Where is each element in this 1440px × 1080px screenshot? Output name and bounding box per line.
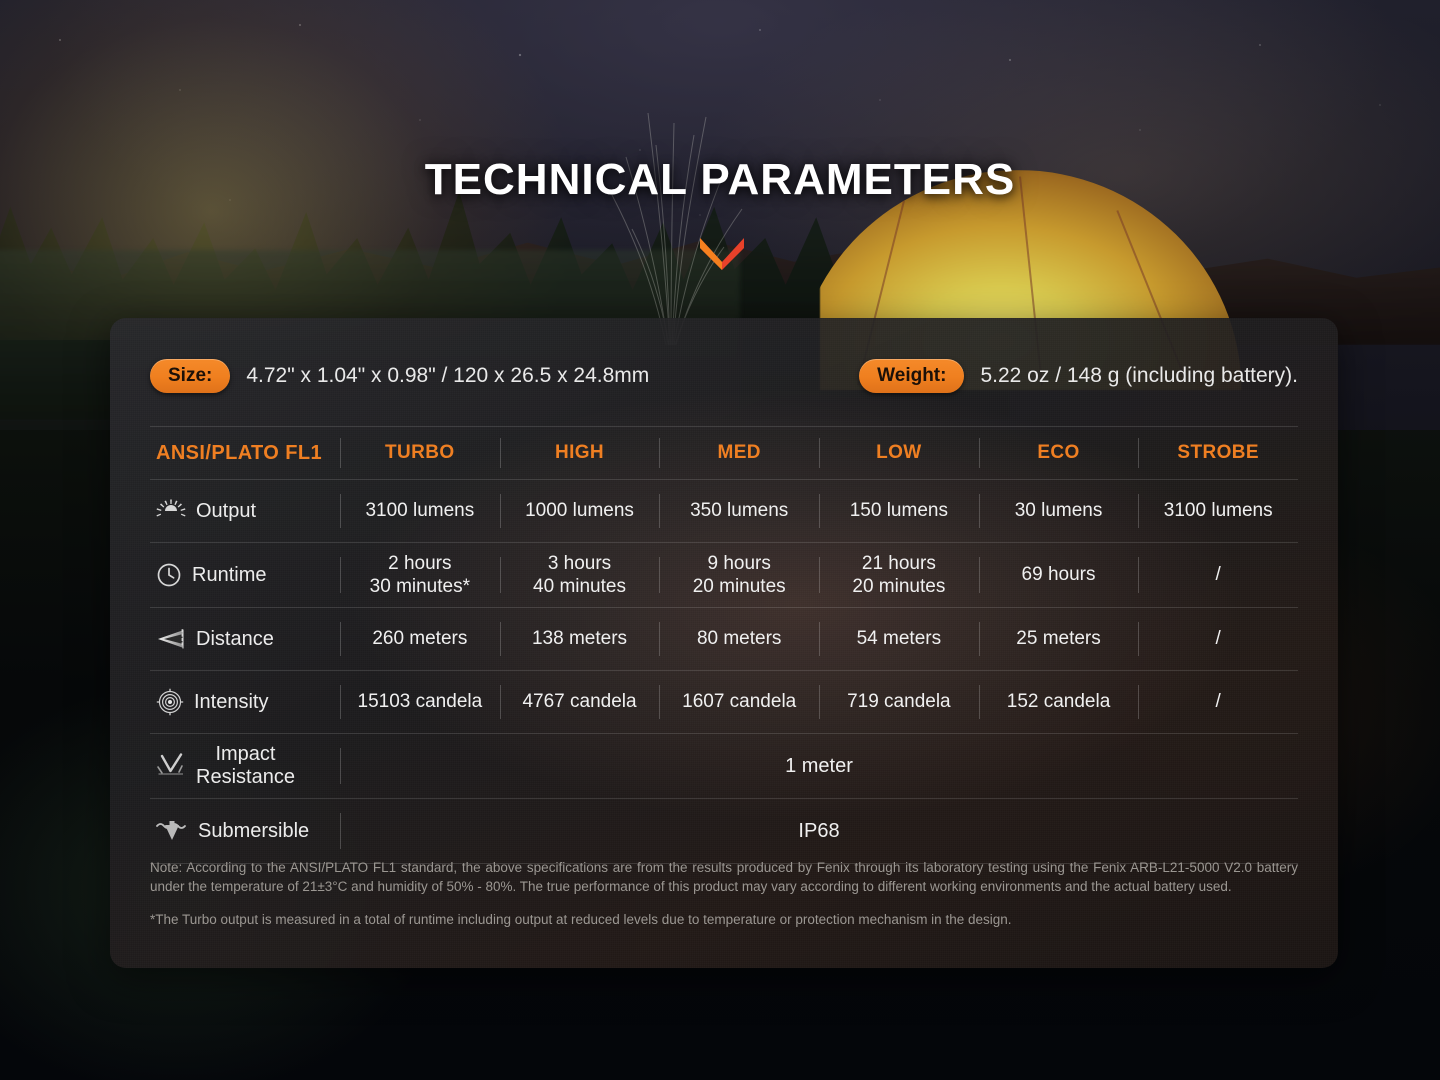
row-label-text: Intensity bbox=[194, 690, 268, 714]
page-root: TECHNICAL PARAMETERS Size: 4.72" x 1.04"… bbox=[0, 0, 1440, 1080]
cell-runtime-low: 21 hours20 minutes bbox=[819, 543, 979, 607]
submersible-icon bbox=[156, 819, 188, 843]
row-label-distance: Distance bbox=[150, 608, 340, 670]
size-value: 4.72" x 1.04" x 0.98" / 120 x 26.5 x 24.… bbox=[246, 364, 649, 388]
note-standard: Note: According to the ANSI/PLATO FL1 st… bbox=[150, 858, 1298, 896]
cell-distance-high: 138 meters bbox=[500, 608, 660, 670]
chevron-down-icon bbox=[698, 236, 746, 270]
column-header-low: LOW bbox=[819, 427, 979, 479]
row-label-runtime: Runtime bbox=[150, 543, 340, 607]
notes-block: Note: According to the ANSI/PLATO FL1 st… bbox=[150, 858, 1298, 929]
cell-intensity-eco: 152 candela bbox=[979, 671, 1139, 733]
table-row: ImpactResistance 1 meter bbox=[150, 733, 1298, 798]
size-group: Size: 4.72" x 1.04" x 0.98" / 120 x 26.5… bbox=[150, 359, 649, 393]
spec-card: Size: 4.72" x 1.04" x 0.98" / 120 x 26.5… bbox=[110, 318, 1338, 968]
row-label-impact-resistance: ImpactResistance bbox=[150, 734, 340, 798]
column-header-high: HIGH bbox=[500, 427, 660, 479]
cell-intensity-turbo: 15103 candela bbox=[340, 671, 500, 733]
table-row: Output 3100 lumens 1000 lumens 350 lumen… bbox=[150, 479, 1298, 542]
row-label-intensity: Intensity bbox=[150, 671, 340, 733]
cell-intensity-high: 4767 candela bbox=[500, 671, 660, 733]
cell-intensity-low: 719 candela bbox=[819, 671, 979, 733]
cell-runtime-turbo: 2 hours30 minutes* bbox=[340, 543, 500, 607]
page-title: TECHNICAL PARAMETERS bbox=[0, 155, 1440, 205]
cell-output-turbo: 3100 lumens bbox=[340, 480, 500, 542]
cell-submersible-value: IP68 bbox=[340, 799, 1298, 863]
cell-distance-strobe: / bbox=[1138, 608, 1298, 670]
table-row: Submersible IP68 bbox=[150, 798, 1298, 864]
specifications-table: ANSI/PLATO FL1 TURBO HIGH MED LOW ECO ST… bbox=[150, 426, 1298, 864]
table-row: Distance 260 meters 138 meters 80 meters… bbox=[150, 607, 1298, 670]
weight-label-pill: Weight: bbox=[859, 359, 964, 393]
sunburst-icon bbox=[156, 499, 186, 523]
weight-group: Weight: 5.22 oz / 148 g (including batte… bbox=[859, 359, 1298, 393]
row-label-submersible: Submersible bbox=[150, 799, 340, 863]
cell-distance-low: 54 meters bbox=[819, 608, 979, 670]
background-grass-tuft bbox=[560, 105, 790, 345]
size-label-pill: Size: bbox=[150, 359, 230, 393]
table-header-row: ANSI/PLATO FL1 TURBO HIGH MED LOW ECO ST… bbox=[150, 426, 1298, 479]
row-label-text: Distance bbox=[196, 627, 274, 651]
note-turbo-asterisk: *The Turbo output is measured in a total… bbox=[150, 910, 1298, 929]
column-header-turbo: TURBO bbox=[340, 427, 500, 479]
table-row: Intensity 15103 candela 4767 candela 160… bbox=[150, 670, 1298, 733]
cell-impact-resistance-value: 1 meter bbox=[340, 734, 1298, 798]
column-header-standard: ANSI/PLATO FL1 bbox=[150, 427, 340, 479]
row-label-text: Submersible bbox=[198, 819, 309, 843]
cell-distance-eco: 25 meters bbox=[979, 608, 1139, 670]
cell-distance-med: 80 meters bbox=[659, 608, 819, 670]
beam-distance-icon bbox=[156, 628, 186, 650]
cell-runtime-eco: 69 hours bbox=[979, 543, 1139, 607]
cell-output-eco: 30 lumens bbox=[979, 480, 1139, 542]
cell-intensity-strobe: / bbox=[1138, 671, 1298, 733]
cell-runtime-strobe: / bbox=[1138, 543, 1298, 607]
row-label-text: ImpactResistance bbox=[196, 743, 295, 789]
weight-value: 5.22 oz / 148 g (including battery). bbox=[980, 364, 1298, 388]
target-intensity-icon bbox=[156, 688, 184, 716]
cell-distance-turbo: 260 meters bbox=[340, 608, 500, 670]
column-header-med: MED bbox=[659, 427, 819, 479]
clock-icon bbox=[156, 562, 182, 588]
column-header-strobe: STROBE bbox=[1138, 427, 1298, 479]
row-label-text: Output bbox=[196, 499, 256, 523]
cell-output-med: 350 lumens bbox=[659, 480, 819, 542]
cell-intensity-med: 1607 candela bbox=[659, 671, 819, 733]
table-row: Runtime 2 hours30 minutes* 3 hours40 min… bbox=[150, 542, 1298, 607]
size-weight-row: Size: 4.72" x 1.04" x 0.98" / 120 x 26.5… bbox=[150, 348, 1298, 404]
column-header-eco: ECO bbox=[979, 427, 1139, 479]
row-label-output: Output bbox=[150, 480, 340, 542]
row-label-text: Runtime bbox=[192, 563, 266, 587]
cell-runtime-high: 3 hours40 minutes bbox=[500, 543, 660, 607]
cell-output-high: 1000 lumens bbox=[500, 480, 660, 542]
cell-output-low: 150 lumens bbox=[819, 480, 979, 542]
cell-runtime-med: 9 hours20 minutes bbox=[659, 543, 819, 607]
impact-drop-icon bbox=[156, 753, 186, 779]
cell-output-strobe: 3100 lumens bbox=[1138, 480, 1298, 542]
